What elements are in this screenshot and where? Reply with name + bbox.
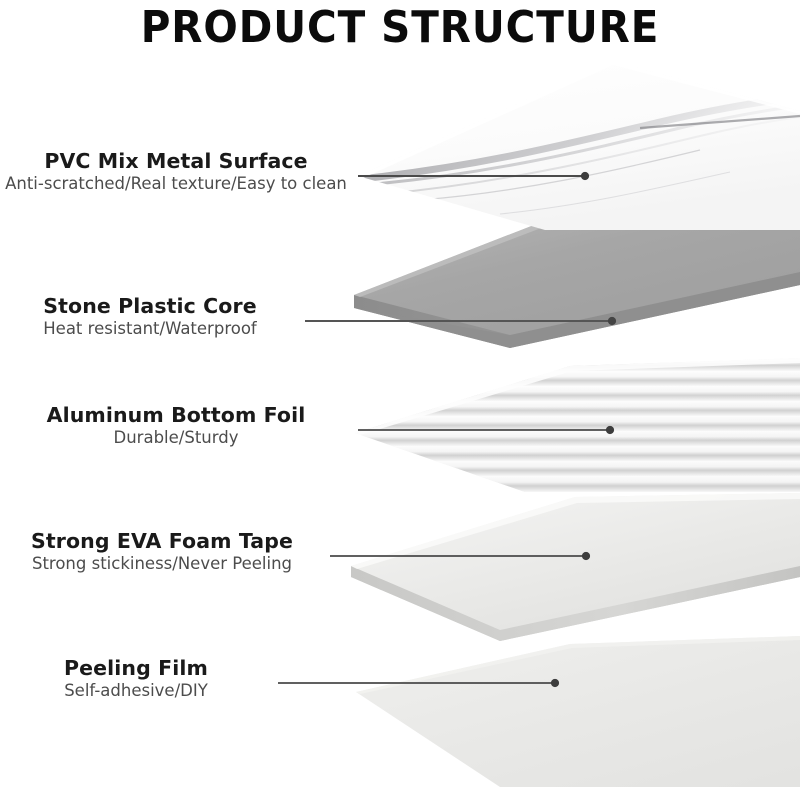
foil-ribs <box>330 356 800 492</box>
layer-shape-marble-surface <box>350 61 800 230</box>
label-stone-plastic-core: Stone Plastic Core Heat resistant/Waterp… <box>0 295 300 338</box>
label-title-peeling-film: Peeling Film <box>0 657 272 680</box>
label-subtitle-pvc-mix-metal-surface: Anti-scratched/Real texture/Easy to clea… <box>0 174 352 193</box>
page-title: PRODUCT STRUCTURE <box>32 2 768 53</box>
label-subtitle-strong-eva-foam-tape: Strong stickiness/Never Peeling <box>0 554 324 573</box>
product-structure-diagram: PRODUCT STRUCTURE PVC Mix Metal Surface … <box>0 0 800 787</box>
label-pvc-mix-metal-surface: PVC Mix Metal Surface Anti-scratched/Rea… <box>0 150 352 193</box>
label-title-pvc-mix-metal-surface: PVC Mix Metal Surface <box>0 150 352 173</box>
layer-shape-peeling-film <box>356 636 800 787</box>
label-title-strong-eva-foam-tape: Strong EVA Foam Tape <box>0 530 324 553</box>
label-subtitle-aluminum-bottom-foil: Durable/Sturdy <box>0 428 352 447</box>
layer-shape-eva-foam-tape <box>351 493 800 641</box>
label-subtitle-stone-plastic-core: Heat resistant/Waterproof <box>0 319 300 338</box>
label-peeling-film: Peeling Film Self-adhesive/DIY <box>0 657 272 700</box>
layer-shape-aluminum-foil <box>330 356 800 492</box>
label-aluminum-bottom-foil: Aluminum Bottom Foil Durable/Sturdy <box>0 404 352 447</box>
label-title-aluminum-bottom-foil: Aluminum Bottom Foil <box>0 404 352 427</box>
label-subtitle-peeling-film: Self-adhesive/DIY <box>0 681 272 700</box>
label-title-stone-plastic-core: Stone Plastic Core <box>0 295 300 318</box>
label-strong-eva-foam-tape: Strong EVA Foam Tape Strong stickiness/N… <box>0 530 324 573</box>
